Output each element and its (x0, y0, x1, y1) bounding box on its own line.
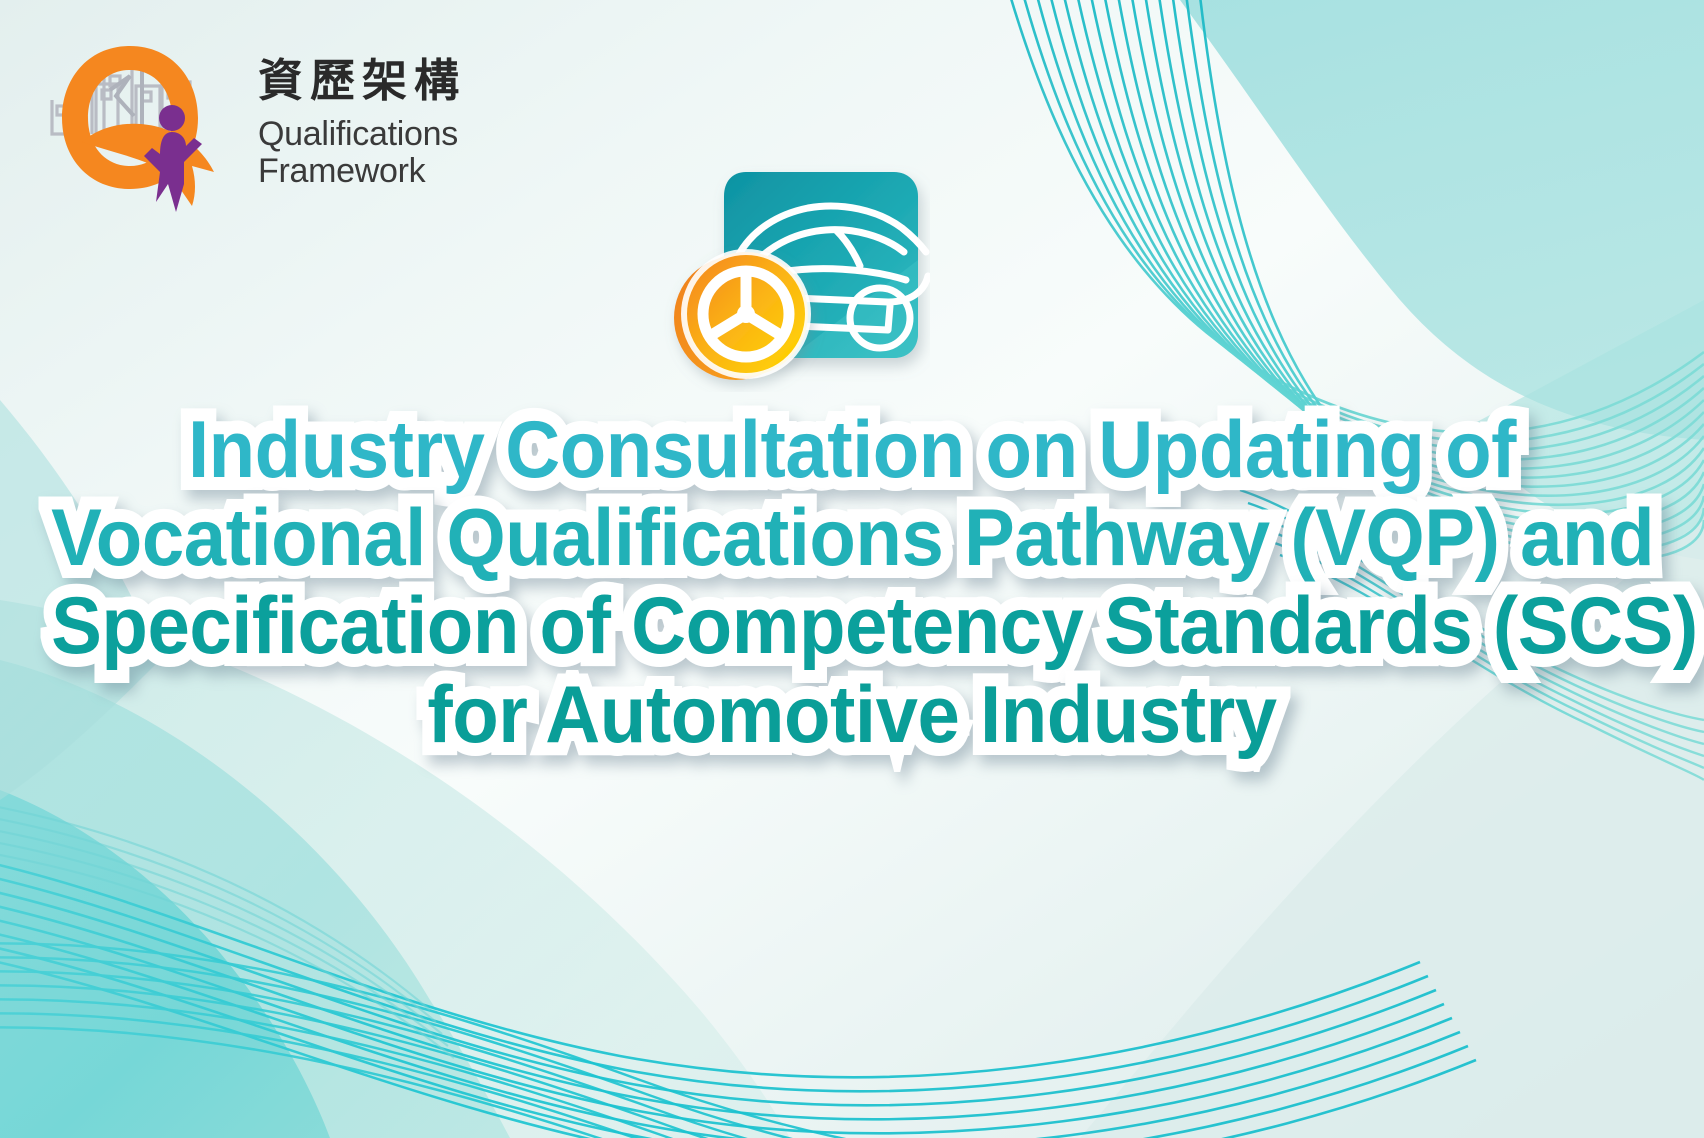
title-line-1: Industry Consultation on Updating of (51, 406, 1653, 494)
title-line-2: Vocational Qualifications Pathway (VQP) … (51, 494, 1653, 582)
qualifications-framework-logo: 資歷架構 Qualifications Framework (44, 34, 444, 219)
logo-chinese-name: 資歷架構 (258, 58, 466, 103)
title-line-3: Specification of Competency Standards (S… (51, 582, 1653, 670)
title-line-4: for Automotive Industry (51, 671, 1653, 759)
qf-logo-mark (44, 34, 244, 219)
banner-canvas: 資歷架構 Qualifications Framework (0, 0, 1704, 1138)
logo-english-name: Qualifications Framework (258, 116, 458, 189)
steering-wheel-icon (674, 252, 808, 380)
automotive-icon (640, 160, 930, 392)
page-title: Industry Consultation on Updating of Voc… (0, 406, 1704, 759)
